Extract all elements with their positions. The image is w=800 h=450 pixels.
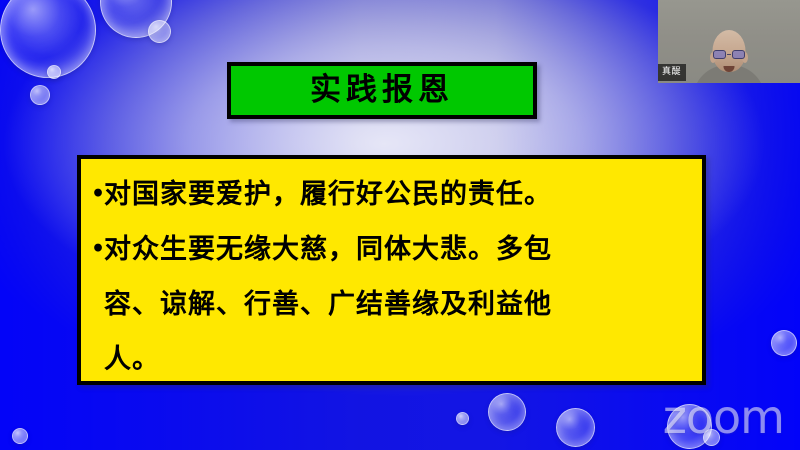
slide-bullet-line: •对国家要爱护，履行好公民的责任。 <box>91 167 692 222</box>
slide-bullet-line: 容、谅解、行善、广结善缘及利益他 <box>91 277 692 332</box>
slide-title-box: 实践报恩 <box>227 62 537 119</box>
zoom-watermark: zoom <box>663 390 784 444</box>
bubble-bottom-tiny-icon <box>456 412 469 425</box>
bubble-left-tiny-icon <box>47 65 61 79</box>
participant-name-badge: 真醍 <box>658 64 686 81</box>
bullet-text: 容、谅解、行善、广结善缘及利益他 <box>104 277 692 332</box>
zoom-screen-share-view: 实践报恩 •对国家要爱护，履行好公民的责任。•对众生要无缘大慈，同体大悲。多包容… <box>0 0 800 450</box>
slide-bullet-line: •对众生要无缘大慈，同体大悲。多包 <box>91 222 692 277</box>
slide-bullet-list: •对国家要爱护，履行好公民的责任。•对众生要无缘大慈，同体大悲。多包容、谅解、行… <box>91 167 692 385</box>
slide-body-box: •对国家要爱护，履行好公民的责任。•对众生要无缘大慈，同体大悲。多包容、谅解、行… <box>77 155 706 385</box>
glasses-lens-right <box>732 50 745 59</box>
glasses-lens-left <box>713 50 726 59</box>
bullet-text: 对国家要爱护，履行好公民的责任。 <box>104 167 692 222</box>
bullet-marker: • <box>91 222 104 277</box>
bubble-bottom-far-left-icon <box>12 428 28 444</box>
slide-title: 实践报恩 <box>310 75 454 106</box>
bullet-text: 人。 <box>104 332 692 385</box>
bubble-top-right-small-icon <box>148 20 171 43</box>
glasses-bridge <box>727 54 731 56</box>
bullet-marker: • <box>91 167 104 222</box>
bullet-text: 对众生要无缘大慈，同体大悲。多包 <box>104 222 692 277</box>
glasses-icon <box>713 50 745 59</box>
bubble-bottom-large-icon <box>556 408 595 447</box>
bubble-right-mid-icon <box>771 330 797 356</box>
participant-video-tile[interactable]: 真醍 <box>658 0 800 83</box>
slide-bullet-line: 人。 <box>91 332 692 385</box>
bubble-left-small-icon <box>30 85 50 105</box>
bubble-bottom-medium-icon <box>488 393 526 431</box>
